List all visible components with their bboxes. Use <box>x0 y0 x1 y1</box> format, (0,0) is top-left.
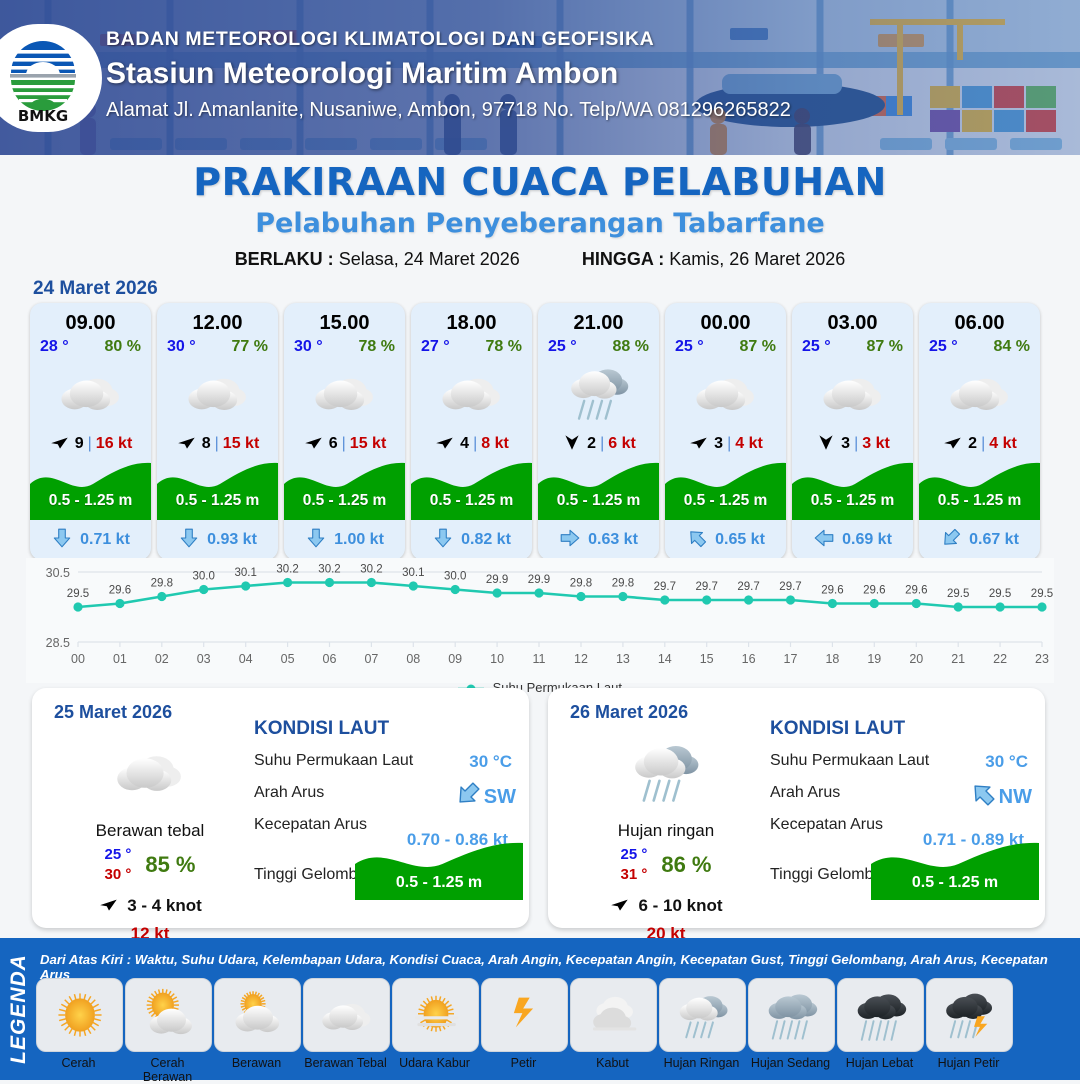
svg-text:16: 16 <box>742 652 756 666</box>
current-speed-label: Kecepatan Arus <box>254 816 367 833</box>
legend-item: Hujan Ringan <box>659 978 744 1084</box>
day-condition: Berawan tebal <box>50 821 250 841</box>
page-subtitle: Pelabuhan Penyeberangan Tabarfane <box>0 208 1080 239</box>
card-gust: 8 kt <box>481 435 509 453</box>
header-text-block: BADAN METEOROLOGI KLIMATOLOGI DAN GEOFIS… <box>106 28 791 122</box>
svg-text:29.6: 29.6 <box>109 585 131 597</box>
card-temperature: 25 ° <box>675 338 704 356</box>
card-current: 0.69 kt <box>792 520 913 560</box>
legend-item: Petir <box>481 978 566 1084</box>
card-current-speed: 0.67 kt <box>969 531 1019 549</box>
card-wave: 0.5 - 1.25 m <box>538 458 659 520</box>
card-current-speed: 0.69 kt <box>842 531 892 549</box>
legend-item-row: Cerah Cerah Berawan <box>36 978 1076 1084</box>
card-temperature: 30 ° <box>294 338 323 356</box>
current-speed-label: Kecepatan Arus <box>770 816 883 833</box>
legend-item-label: Udara Kabur <box>392 1056 477 1070</box>
legend-item-label: Hujan Petir <box>926 1056 1011 1070</box>
day-temp-min: 25 ° <box>104 845 131 865</box>
hujan-sedang-icon <box>748 978 835 1052</box>
card-wave-value: 0.5 - 1.25 m <box>411 492 532 510</box>
card-wind-separator: | <box>727 435 731 453</box>
card-wind-separator: | <box>600 435 604 453</box>
card-gust: 15 kt <box>223 435 259 453</box>
current-direction-arrow-icon <box>51 527 73 554</box>
card-current-speed: 0.93 kt <box>207 531 257 549</box>
berawan-tebal-icon <box>303 978 390 1052</box>
day-condition: Hujan ringan <box>566 821 766 841</box>
svg-text:11: 11 <box>533 652 546 666</box>
svg-text:29.9: 29.9 <box>486 574 508 586</box>
card-gust: 16 kt <box>96 435 132 453</box>
current-direction-arrow-icon <box>969 780 997 814</box>
card-gust: 4 kt <box>989 435 1017 453</box>
hujan-petir-icon <box>926 978 1013 1052</box>
hujan-ringan-icon <box>566 730 766 817</box>
card-time: 06.00 <box>919 303 1040 335</box>
card-time: 09.00 <box>30 303 151 335</box>
day-wind-value: 6 - 10 knot <box>638 896 722 916</box>
svg-text:30.0: 30.0 <box>444 571 466 583</box>
legend-item: Kabut <box>570 978 655 1084</box>
card-current-speed: 0.82 kt <box>461 531 511 549</box>
svg-text:30.2: 30.2 <box>360 564 382 576</box>
wind-direction-arrow-icon <box>176 431 198 458</box>
legend-item-label: Berawan <box>214 1056 299 1070</box>
legend-item-label: Hujan Sedang <box>748 1056 833 1070</box>
forecast-card: 21.00 25 ° 88 % 2 | 6 kt <box>538 303 659 560</box>
card-current: 0.71 kt <box>30 520 151 560</box>
card-temperature: 28 ° <box>40 338 69 356</box>
sst-chart: 30.528.529.50029.60129.80230.00330.10430… <box>26 558 1054 683</box>
sea-condition-title: KONDISI LAUT <box>254 718 516 740</box>
forecast-card: 00.00 25 ° 87 % 3 | 4 kt <box>665 303 786 560</box>
card-time: 18.00 <box>411 303 532 335</box>
card-current: 0.65 kt <box>665 520 786 560</box>
day-wave-box: 0.5 - 1.25 m <box>871 838 1039 900</box>
day-summary: Hujan ringan 25 ° 31 ° 86 % 6 - 10 knot … <box>566 730 766 944</box>
card-temperature: 25 ° <box>548 338 577 356</box>
hingga-value: Kamis, 26 Maret 2026 <box>669 249 845 269</box>
svg-text:00: 00 <box>71 652 85 666</box>
svg-text:15: 15 <box>700 652 714 666</box>
card-wind-separator: | <box>342 435 346 453</box>
day-summary: Berawan tebal 25 ° 30 ° 85 % 3 - 4 knot … <box>50 730 250 944</box>
svg-text:20: 20 <box>909 652 923 666</box>
hujan-ringan-icon <box>538 356 659 428</box>
card-wave-value: 0.5 - 1.25 m <box>665 492 786 510</box>
svg-text:18: 18 <box>825 652 839 666</box>
svg-text:01: 01 <box>113 652 127 666</box>
forecast-card: 09.00 28 ° 80 % 9 | 16 kt <box>30 303 151 560</box>
card-wind-degree: 2 <box>968 435 977 453</box>
day-panel-25: 25 Maret 2026 Berawan tebal 25 ° 30 ° <box>32 688 529 928</box>
legend-item: Berawan <box>214 978 299 1084</box>
card-wind-degree: 8 <box>202 435 211 453</box>
card-wave: 0.5 - 1.25 m <box>792 458 913 520</box>
legend-item: Cerah <box>36 978 121 1084</box>
legend-item: Hujan Sedang <box>748 978 833 1084</box>
svg-text:06: 06 <box>323 652 337 666</box>
card-wave: 0.5 - 1.25 m <box>411 458 532 520</box>
legend-item-label: Hujan Lebat <box>837 1056 922 1070</box>
svg-text:28.5: 28.5 <box>46 636 70 650</box>
legend-item-label: Berawan Tebal <box>303 1056 388 1070</box>
card-current-speed: 0.65 kt <box>715 531 765 549</box>
card-gust: 15 kt <box>350 435 386 453</box>
card-wave-value: 0.5 - 1.25 m <box>792 492 913 510</box>
card-wind-degree: 6 <box>329 435 338 453</box>
wind-direction-arrow-icon <box>303 431 325 458</box>
forecast-card-row: 09.00 28 ° 80 % 9 | 16 kt <box>30 303 1050 560</box>
card-wave: 0.5 - 1.25 m <box>284 458 405 520</box>
card-humidity: 87 % <box>867 338 903 356</box>
forecast-card: 06.00 25 ° 84 % 2 | 4 kt <box>919 303 1040 560</box>
wind-direction-arrow-icon <box>434 431 456 458</box>
sea-condition-title: KONDISI LAUT <box>770 718 1032 740</box>
card-humidity: 80 % <box>105 338 141 356</box>
card-wind: 2 | 4 kt <box>919 428 1040 460</box>
card-wind-separator: | <box>473 435 477 453</box>
card-wave-value: 0.5 - 1.25 m <box>919 492 1040 510</box>
card-current-speed: 1.00 kt <box>334 531 384 549</box>
card-temperature: 27 ° <box>421 338 450 356</box>
card-wind: 3 | 4 kt <box>665 428 786 460</box>
card-time: 12.00 <box>157 303 278 335</box>
wind-direction-arrow-icon <box>609 893 631 920</box>
wind-direction-arrow-icon <box>49 431 71 458</box>
card-humidity: 77 % <box>232 338 268 356</box>
card-current: 0.67 kt <box>919 520 1040 560</box>
sst-label: Suhu Permukaan Laut <box>770 752 929 769</box>
forecast-card: 03.00 25 ° 87 % 3 | 3 kt <box>792 303 913 560</box>
card-temperature: 25 ° <box>802 338 831 356</box>
card-wind-degree: 2 <box>587 435 596 453</box>
svg-text:09: 09 <box>448 652 462 666</box>
current-direction-row: Arah Arus NW <box>770 784 1032 804</box>
card-current: 0.82 kt <box>411 520 532 560</box>
berawan-icon <box>214 978 301 1052</box>
card-current-speed: 0.63 kt <box>588 531 638 549</box>
day-humidity: 85 % <box>145 852 195 878</box>
cerah-icon <box>36 978 123 1052</box>
card-humidity: 88 % <box>613 338 649 356</box>
card-wave: 0.5 - 1.25 m <box>919 458 1040 520</box>
svg-text:05: 05 <box>281 652 295 666</box>
sst-row: Suhu Permukaan Laut 30 °C <box>770 752 1032 772</box>
svg-text:22: 22 <box>993 652 1007 666</box>
page-title: PRAKIRAAN CUACA PELABUHAN <box>0 160 1080 204</box>
svg-text:08: 08 <box>406 652 420 666</box>
hujan-ringan-icon <box>659 978 746 1052</box>
card-temperature: 30 ° <box>167 338 196 356</box>
card-current: 0.93 kt <box>157 520 278 560</box>
berawan-tebal-icon <box>665 356 786 428</box>
forecast-card: 18.00 27 ° 78 % 4 | 8 kt <box>411 303 532 560</box>
kabut-icon <box>570 978 657 1052</box>
current-direction-arrow-icon <box>940 527 962 554</box>
card-wave: 0.5 - 1.25 m <box>157 458 278 520</box>
svg-text:23: 23 <box>1035 652 1049 666</box>
station-name: Stasiun Meteorologi Maritim Ambon <box>106 57 791 91</box>
card-wave-value: 0.5 - 1.25 m <box>538 492 659 510</box>
svg-text:29.5: 29.5 <box>67 588 89 600</box>
day-wind: 6 - 10 knot <box>566 893 766 920</box>
current-direction-arrow-icon <box>178 527 200 554</box>
page-header: BMKG BADAN METEOROLOGI KLIMATOLOGI DAN G… <box>0 0 1080 155</box>
card-current: 0.63 kt <box>538 520 659 560</box>
berawan-tebal-icon <box>50 730 250 817</box>
current-direction-value-group: NW <box>969 780 1032 814</box>
card-current: 1.00 kt <box>284 520 405 560</box>
current-direction-arrow-icon <box>686 527 708 554</box>
day-date: 25 Maret 2026 <box>54 702 172 723</box>
card-current-speed: 0.71 kt <box>80 531 130 549</box>
svg-text:29.6: 29.6 <box>821 585 843 597</box>
svg-text:29.5: 29.5 <box>947 588 969 600</box>
card-gust: 3 kt <box>862 435 890 453</box>
card-wind-separator: | <box>88 435 92 453</box>
berawan-tebal-icon <box>411 356 532 428</box>
card-wind-separator: | <box>854 435 858 453</box>
svg-text:14: 14 <box>658 652 672 666</box>
legend-item: Cerah Berawan <box>125 978 210 1084</box>
svg-text:30.5: 30.5 <box>46 566 70 580</box>
day-humidity: 86 % <box>661 852 711 878</box>
cerah-berawan-icon <box>125 978 212 1052</box>
legend-item: Berawan Tebal <box>303 978 388 1084</box>
current-speed-row: Kecepatan Arus 0.70 - 0.86 kt <box>254 816 516 836</box>
card-gust: 6 kt <box>608 435 636 453</box>
legend-item-label: Cerah <box>36 1056 121 1070</box>
day-panel-26: 26 Maret 2026 Hujan ringan 25 ° 31 ° <box>548 688 1045 928</box>
current-direction-value: SW <box>484 786 516 809</box>
current-direction-arrow-icon <box>813 527 835 554</box>
day-temp-max: 31 ° <box>620 865 647 885</box>
current-direction-arrow-icon <box>454 780 482 814</box>
wind-direction-arrow-icon <box>688 431 710 458</box>
sst-label: Suhu Permukaan Laut <box>254 752 413 769</box>
day-wave-value: 0.5 - 1.25 m <box>871 874 1039 892</box>
day-wind-value: 3 - 4 knot <box>127 896 202 916</box>
forecast-card: 12.00 30 ° 77 % 8 | 15 kt <box>157 303 278 560</box>
wind-direction-arrow-icon <box>98 893 120 920</box>
card-wind: 9 | 16 kt <box>30 428 151 460</box>
wind-direction-arrow-icon <box>942 431 964 458</box>
svg-text:07: 07 <box>364 652 378 666</box>
current-direction-arrow-icon <box>432 527 454 554</box>
current-direction-value: NW <box>999 786 1032 809</box>
svg-text:29.6: 29.6 <box>905 585 927 597</box>
card-time: 00.00 <box>665 303 786 335</box>
svg-text:19: 19 <box>867 652 881 666</box>
hujan-lebat-icon <box>837 978 924 1052</box>
card-wind: 4 | 8 kt <box>411 428 532 460</box>
berlaku-label: BERLAKU : <box>235 249 334 269</box>
day-wave-box: 0.5 - 1.25 m <box>355 838 523 900</box>
svg-text:13: 13 <box>616 652 630 666</box>
svg-text:02: 02 <box>155 652 169 666</box>
current-direction-label: Arah Arus <box>254 784 324 801</box>
berawan-tebal-icon <box>157 356 278 428</box>
sst-value: 30 °C <box>469 752 512 772</box>
station-address: Alamat Jl. Amanlanite, Nusaniwe, Ambon, … <box>106 99 791 122</box>
svg-text:04: 04 <box>239 652 253 666</box>
svg-text:29.8: 29.8 <box>151 578 173 590</box>
svg-text:29.7: 29.7 <box>654 581 676 593</box>
svg-text:29.5: 29.5 <box>1031 588 1053 600</box>
svg-text:30.2: 30.2 <box>276 564 298 576</box>
card-wave: 0.5 - 1.25 m <box>665 458 786 520</box>
berawan-tebal-icon <box>30 356 151 428</box>
svg-text:30.1: 30.1 <box>235 567 257 579</box>
day-date: 26 Maret 2026 <box>570 702 688 723</box>
svg-text:30.2: 30.2 <box>318 564 340 576</box>
forecast-date-label: 24 Maret 2026 <box>33 278 158 300</box>
legend-item: Hujan Petir <box>926 978 1011 1084</box>
legend-item-label: Petir <box>481 1056 566 1070</box>
svg-text:29.9: 29.9 <box>528 574 550 586</box>
card-wind: 2 | 6 kt <box>538 428 659 460</box>
validity-line: BERLAKU : Selasa, 24 Maret 2026 HINGGA :… <box>0 249 1080 270</box>
card-wind-degree: 3 <box>714 435 723 453</box>
current-direction-label: Arah Arus <box>770 784 840 801</box>
hingga-label: HINGGA : <box>582 249 664 269</box>
card-wind: 6 | 15 kt <box>284 428 405 460</box>
svg-text:12: 12 <box>574 652 588 666</box>
card-wind-separator: | <box>215 435 219 453</box>
card-time: 15.00 <box>284 303 405 335</box>
card-wind-degree: 9 <box>75 435 84 453</box>
current-speed-row: Kecepatan Arus 0.71 - 0.89 kt <box>770 816 1032 836</box>
card-wind: 3 | 3 kt <box>792 428 913 460</box>
card-wind: 8 | 15 kt <box>157 428 278 460</box>
card-humidity: 78 % <box>359 338 395 356</box>
berlaku-value: Selasa, 24 Maret 2026 <box>339 249 520 269</box>
petir-icon <box>481 978 568 1052</box>
card-humidity: 84 % <box>994 338 1030 356</box>
card-time: 21.00 <box>538 303 659 335</box>
sst-row: Suhu Permukaan Laut 30 °C <box>254 752 516 772</box>
card-gust: 4 kt <box>735 435 763 453</box>
legenda-side-label: LEGENDA <box>2 940 36 1078</box>
udara-kabur-icon <box>392 978 479 1052</box>
wind-direction-arrow-icon <box>815 431 837 458</box>
day-wind: 3 - 4 knot <box>50 893 250 920</box>
current-direction-row: Arah Arus SW <box>254 784 516 804</box>
current-direction-value-group: SW <box>454 780 516 814</box>
svg-text:29.5: 29.5 <box>989 588 1011 600</box>
svg-text:10: 10 <box>490 652 504 666</box>
berawan-tebal-icon <box>284 356 405 428</box>
day-temp-max: 30 ° <box>104 865 131 885</box>
card-wave-value: 0.5 - 1.25 m <box>157 492 278 510</box>
svg-text:30.0: 30.0 <box>193 571 215 583</box>
svg-text:29.7: 29.7 <box>696 581 718 593</box>
svg-text:30.1: 30.1 <box>402 567 424 579</box>
legend-item-label: Kabut <box>570 1056 655 1070</box>
svg-text:03: 03 <box>197 652 211 666</box>
svg-text:21: 21 <box>951 652 965 666</box>
card-humidity: 87 % <box>740 338 776 356</box>
current-direction-arrow-icon <box>559 527 581 554</box>
title-block: PRAKIRAAN CUACA PELABUHAN Pelabuhan Peny… <box>0 160 1080 270</box>
legend-item: Hujan Lebat <box>837 978 922 1084</box>
forecast-card: 15.00 30 ° 78 % 6 | 15 kt <box>284 303 405 560</box>
svg-text:29.7: 29.7 <box>779 581 801 593</box>
card-wind-degree: 3 <box>841 435 850 453</box>
svg-text:29.6: 29.6 <box>863 585 885 597</box>
card-temperature: 25 ° <box>929 338 958 356</box>
card-wave-value: 0.5 - 1.25 m <box>30 492 151 510</box>
card-wave-value: 0.5 - 1.25 m <box>284 492 405 510</box>
card-wave: 0.5 - 1.25 m <box>30 458 151 520</box>
svg-text:29.8: 29.8 <box>570 578 592 590</box>
berawan-tebal-icon <box>919 356 1040 428</box>
svg-text:29.7: 29.7 <box>737 581 759 593</box>
card-wind-separator: | <box>981 435 985 453</box>
svg-text:29.8: 29.8 <box>612 578 634 590</box>
card-wind-degree: 4 <box>460 435 469 453</box>
wind-direction-arrow-icon <box>561 431 583 458</box>
svg-text:17: 17 <box>784 652 798 666</box>
berawan-tebal-icon <box>792 356 913 428</box>
card-time: 03.00 <box>792 303 913 335</box>
svg-text:BMKG: BMKG <box>18 107 68 123</box>
current-direction-arrow-icon <box>305 527 327 554</box>
sst-value: 30 °C <box>985 752 1028 772</box>
day-wave-value: 0.5 - 1.25 m <box>355 874 523 892</box>
legend-item-label: Hujan Ringan <box>659 1056 744 1070</box>
legend-item: Udara Kabur <box>392 978 477 1084</box>
day-temp-min: 25 ° <box>620 845 647 865</box>
agency-name: BADAN METEOROLOGI KLIMATOLOGI DAN GEOFIS… <box>106 28 791 51</box>
card-humidity: 78 % <box>486 338 522 356</box>
